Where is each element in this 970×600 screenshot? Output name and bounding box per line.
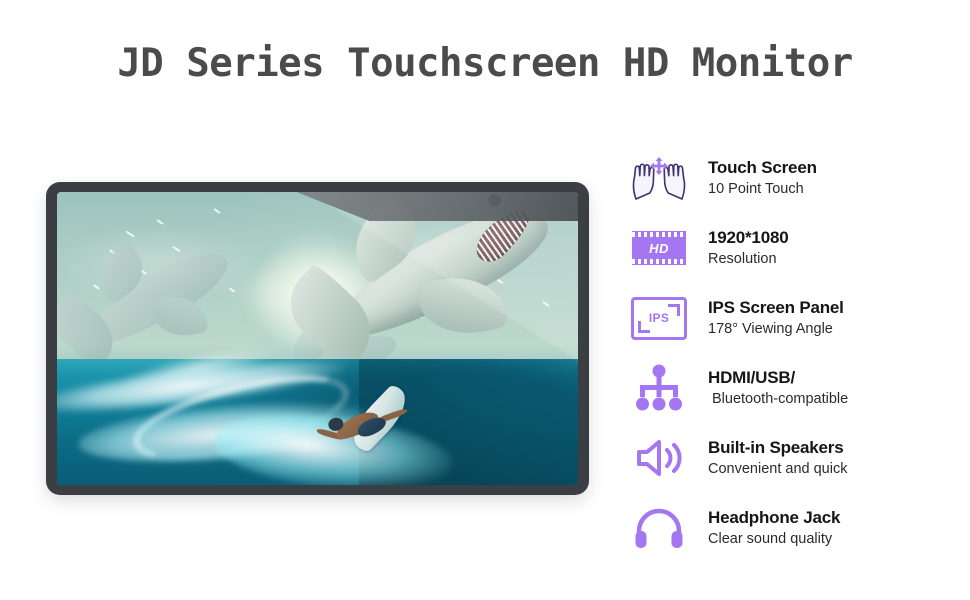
monitor-product-image bbox=[46, 182, 589, 495]
feature-title: Built-in Speakers bbox=[708, 437, 847, 458]
feature-subtitle: Clear sound quality bbox=[708, 530, 840, 549]
feature-row-speakers: Built-in Speakers Convenient and quick bbox=[628, 423, 958, 493]
feature-row-touch-screen: Touch Screen 10 Point Touch bbox=[628, 143, 958, 213]
feature-subtitle: 10 Point Touch bbox=[708, 180, 817, 199]
feature-list: Touch Screen 10 Point Touch HD 1920*1080… bbox=[628, 143, 958, 563]
feature-title: 1920*1080 bbox=[708, 227, 788, 248]
page-title: JD Series Touchscreen HD Monitor bbox=[0, 44, 970, 83]
hd-label: HD bbox=[649, 241, 669, 256]
feature-text-headphone-jack: Headphone Jack Clear sound quality bbox=[708, 507, 840, 549]
feature-text-speakers: Built-in Speakers Convenient and quick bbox=[708, 437, 847, 479]
corner-bracket-icon bbox=[638, 321, 650, 333]
feature-text-connectivity: HDMI/USB/ Bluetooth-compatible bbox=[708, 367, 848, 409]
connectivity-hierarchy-icon bbox=[628, 362, 690, 414]
monitor-screen bbox=[57, 192, 578, 485]
ips-label: IPS bbox=[649, 311, 669, 325]
feature-subtitle: Resolution bbox=[708, 250, 788, 269]
feature-title: IPS Screen Panel bbox=[708, 297, 844, 318]
headphones-icon bbox=[628, 502, 690, 554]
ips-panel-icon: IPS bbox=[628, 292, 690, 344]
corner-bracket-icon bbox=[668, 304, 680, 316]
speaker-icon bbox=[628, 432, 690, 484]
hd-film-strip-icon: HD bbox=[628, 222, 690, 274]
feature-text-touch-screen: Touch Screen 10 Point Touch bbox=[708, 157, 817, 199]
feature-title: Touch Screen bbox=[708, 157, 817, 178]
feature-row-connectivity: HDMI/USB/ Bluetooth-compatible bbox=[628, 353, 958, 423]
feature-text-resolution: 1920*1080 Resolution bbox=[708, 227, 788, 269]
feature-subtitle: Bluetooth-compatible bbox=[708, 390, 848, 409]
feature-title: HDMI/USB/ bbox=[708, 367, 848, 388]
feature-row-headphone-jack: Headphone Jack Clear sound quality bbox=[628, 493, 958, 563]
two-hands-touch-icon bbox=[628, 152, 690, 204]
feature-subtitle: Convenient and quick bbox=[708, 460, 847, 479]
feature-subtitle: 178° Viewing Angle bbox=[708, 320, 844, 339]
feature-title: Headphone Jack bbox=[708, 507, 840, 528]
feature-row-resolution: HD 1920*1080 Resolution bbox=[628, 213, 958, 283]
feature-text-ips-panel: IPS Screen Panel 178° Viewing Angle bbox=[708, 297, 844, 339]
feature-row-ips-panel: IPS IPS Screen Panel 178° Viewing Angle bbox=[628, 283, 958, 353]
